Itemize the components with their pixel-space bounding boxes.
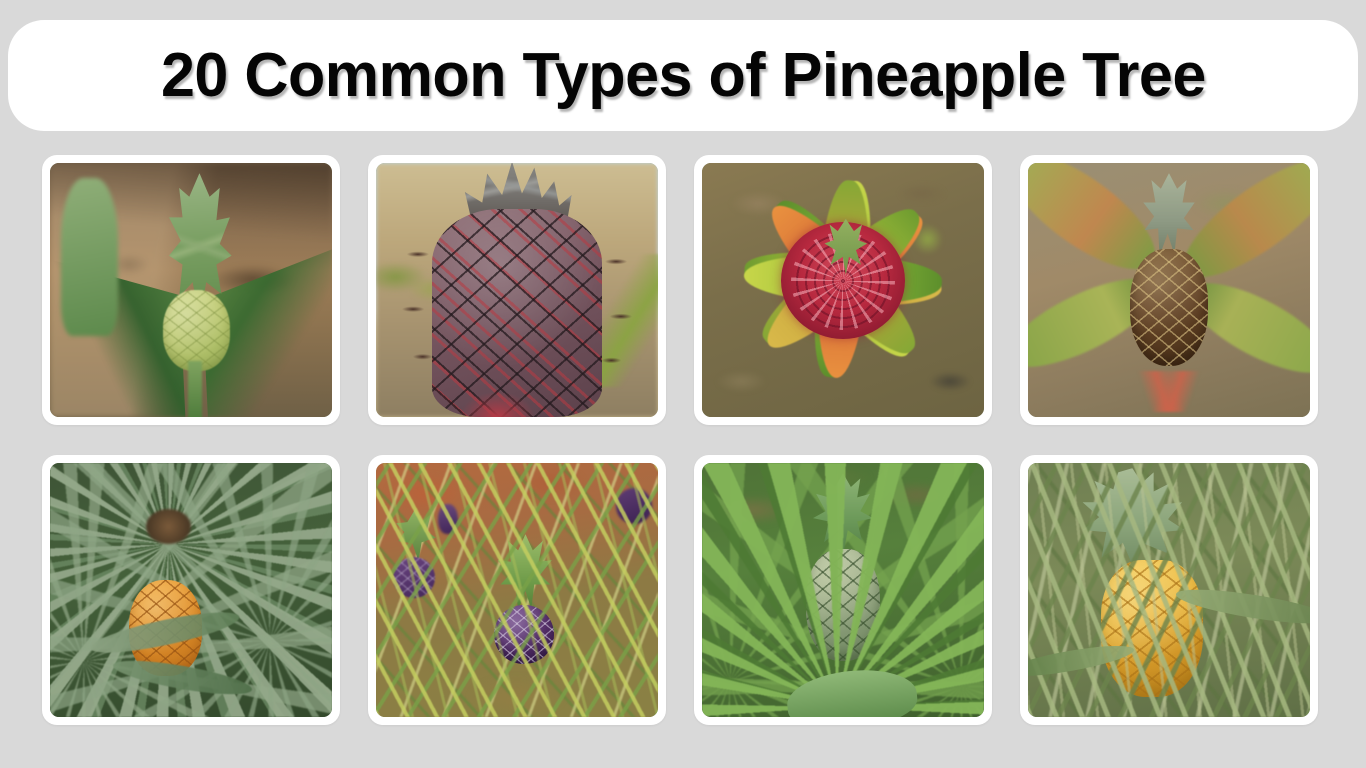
photo-8-golden-pineapple bbox=[1028, 463, 1310, 717]
photo-card-6[interactable] bbox=[368, 455, 666, 725]
photo-7-green-pineapple-leaf-rosette bbox=[702, 463, 984, 717]
photo-4-fruit bbox=[1130, 249, 1209, 366]
photo-card-8[interactable] bbox=[1020, 455, 1318, 725]
photo-1-fruit bbox=[163, 290, 231, 371]
photo-4-bronze-pineapple-dry-soil bbox=[1028, 163, 1310, 417]
photo-6-purple-pineapples-variegated-leaves bbox=[376, 463, 658, 717]
photo-5-orange-pineapple-rosette bbox=[50, 463, 332, 717]
photo-card-3[interactable] bbox=[694, 155, 992, 425]
page-title: 20 Common Types of Pineapple Tree bbox=[161, 45, 1206, 107]
photo-2-red-pineapple-sky-background bbox=[376, 163, 658, 417]
photo-6-front-blades bbox=[376, 463, 658, 717]
photo-card-7[interactable] bbox=[694, 455, 992, 725]
photo-1-side-shoot bbox=[61, 178, 117, 335]
photo-2-fruit-base bbox=[461, 392, 534, 417]
photo-card-1[interactable] bbox=[42, 155, 340, 425]
photo-8-front-blades bbox=[1028, 463, 1310, 717]
photo-3-red-ornamental-flower-head bbox=[702, 163, 984, 417]
photo-card-5[interactable] bbox=[42, 455, 340, 725]
photo-4-red-stems bbox=[1113, 371, 1226, 412]
header-banner: 20 Common Types of Pineapple Tree bbox=[8, 20, 1358, 131]
photo-1-green-pineapple-wood-background bbox=[50, 163, 332, 417]
photo-card-4[interactable] bbox=[1020, 155, 1318, 425]
photo-card-2[interactable] bbox=[368, 155, 666, 425]
photo-gallery-grid bbox=[42, 155, 1318, 725]
photo-2-fruit-spikes bbox=[399, 214, 636, 397]
photo-5-rosette-center bbox=[146, 509, 191, 545]
photo-1-stem bbox=[188, 361, 202, 417]
